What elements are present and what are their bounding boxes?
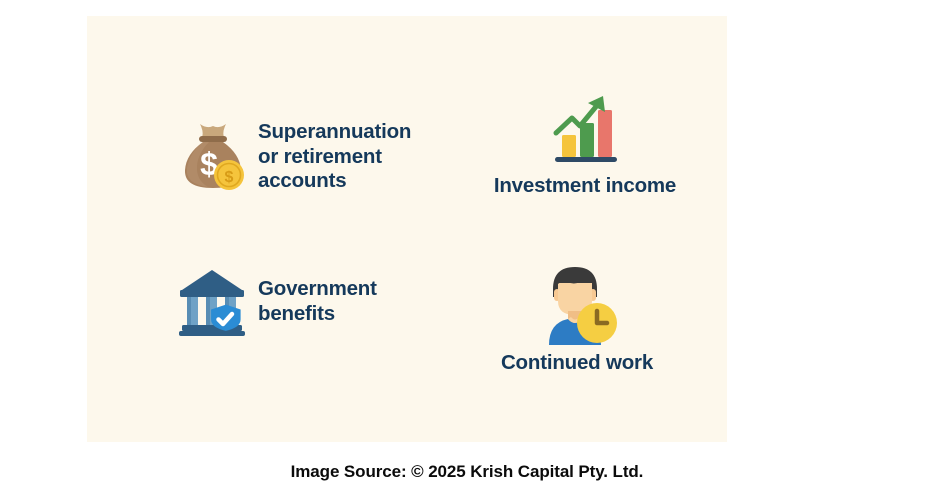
item-superannuation: $ $ Superannuation or retirement account… bbox=[178, 120, 411, 194]
growth-bar-chart-icon bbox=[547, 90, 623, 166]
item-continued-label: Continued work bbox=[501, 351, 653, 376]
svg-text:$: $ bbox=[225, 169, 234, 186]
item-investment-label: Investment income bbox=[494, 174, 676, 199]
item-government: Government benefits bbox=[178, 266, 377, 338]
item-continued: Continued work bbox=[447, 261, 707, 376]
infographic-panel: $ $ Superannuation or retirement account… bbox=[87, 16, 727, 442]
item-investment: Investment income bbox=[455, 90, 715, 199]
item-government-label: Government benefits bbox=[258, 277, 377, 326]
image-source-caption: Image Source: © 2025 Krish Capital Pty. … bbox=[0, 462, 934, 482]
infographic-stage: $ $ Superannuation or retirement account… bbox=[0, 0, 934, 497]
money-bag-icon: $ $ bbox=[178, 120, 248, 194]
person-clock-icon bbox=[535, 261, 619, 345]
bank-shield-icon bbox=[178, 266, 250, 338]
item-superannuation-label: Superannuation or retirement accounts bbox=[258, 120, 411, 194]
